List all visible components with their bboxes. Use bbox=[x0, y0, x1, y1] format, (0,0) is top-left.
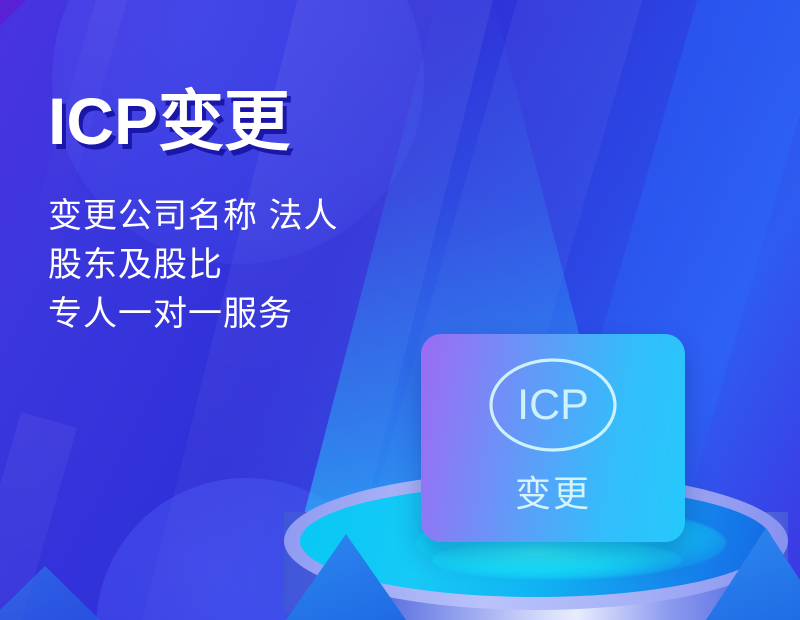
page-title: ICP变更 bbox=[48, 88, 408, 154]
icp-change-banner: ICP变更 变更公司名称 法人 股东及股比 专人一对一服务 ICP 变更 bbox=[0, 0, 800, 620]
subtitle-line-1: 变更公司名称 法人 bbox=[48, 192, 408, 241]
icp-badge: ICP bbox=[487, 356, 619, 454]
icp-badge-text: ICP bbox=[487, 356, 619, 454]
subtitle-line-3: 专人一对一服务 bbox=[48, 290, 408, 339]
icp-card-caption: 变更 bbox=[515, 465, 591, 517]
icp-card-content: ICP 变更 bbox=[421, 334, 685, 542]
subtitle-line-2: 股东及股比 bbox=[48, 241, 408, 290]
corner-triangle-icon bbox=[0, 0, 26, 26]
icp-card: ICP 变更 bbox=[421, 334, 685, 542]
banner-copy-block: ICP变更 变更公司名称 法人 股东及股比 专人一对一服务 bbox=[48, 88, 408, 339]
card-reflection-glow bbox=[432, 540, 682, 580]
subtitle-list: 变更公司名称 法人 股东及股比 专人一对一服务 bbox=[48, 192, 408, 339]
